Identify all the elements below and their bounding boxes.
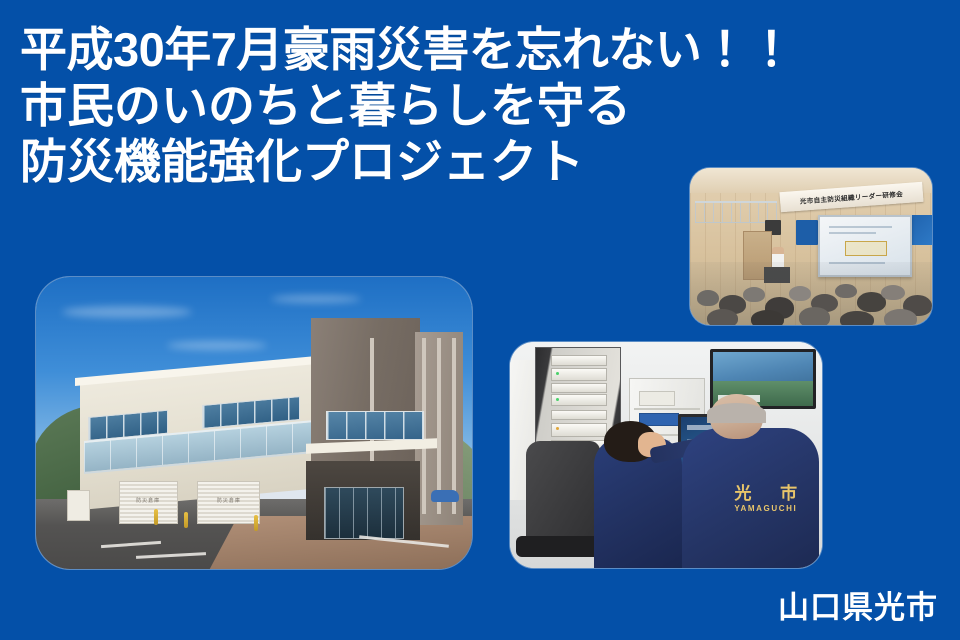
audience-head	[707, 309, 738, 325]
rack-unit	[551, 355, 607, 366]
seminar-scene: 光市自主防災組織リーダー研修会	[690, 168, 932, 325]
bollard	[254, 515, 258, 531]
bollard	[154, 509, 158, 525]
tower-window	[326, 411, 424, 439]
page-title: 平成30年7月豪雨災害を忘れない！！ 市民のいのちと暮らしを守る 防災機能強化プ…	[20, 22, 720, 190]
rack-unit	[551, 394, 607, 406]
city-credit: 山口県光市	[778, 590, 938, 626]
photo-disaster-prevention-building: 防災倉庫 防災倉庫	[36, 277, 472, 569]
uniform-back-print: 光 市 YAMAGUCHI	[697, 484, 822, 514]
photo-leader-training-seminar: 光市自主防災組織リーダー研修会	[690, 168, 932, 325]
cabinet-box	[639, 391, 675, 406]
rack-unit	[551, 383, 607, 393]
title-line-3: 防災機能強化プロジェクト	[20, 134, 720, 190]
parked-car	[431, 490, 459, 502]
entrance-glass-door	[324, 487, 404, 539]
audience-head	[884, 309, 918, 325]
audience-head	[881, 285, 905, 301]
poster-root: 平成30年7月豪雨災害を忘れない！！ 市民のいのちと暮らしを守る 防災機能強化プ…	[0, 0, 960, 640]
slide-line	[829, 232, 876, 234]
audience-head	[835, 284, 857, 298]
rack-unit	[551, 410, 607, 421]
tower-fin	[452, 338, 456, 513]
cloud-wisp	[271, 295, 361, 303]
rack-unit	[551, 423, 607, 436]
seminar-banner-text: 光市自主防災組織リーダー研修会	[799, 188, 903, 206]
operations-scene: 光 市 YAMAGUCHI	[510, 342, 822, 568]
audience-head	[751, 310, 785, 325]
uniform-roman: YAMAGUCHI	[697, 503, 822, 514]
slide-line	[829, 226, 892, 228]
slide-highlight-box	[845, 241, 886, 256]
title-line-1: 平成30年7月豪雨災害を忘れない！！	[20, 22, 720, 78]
audience-head	[743, 287, 765, 302]
audience-head	[697, 290, 719, 306]
rack-status-led	[556, 372, 559, 375]
tower-fin	[437, 338, 441, 513]
uniform-kanji: 光 市	[697, 484, 822, 503]
audience-head	[799, 307, 830, 325]
garage-shutter-right: 防災倉庫	[197, 481, 260, 524]
flag-left	[796, 220, 818, 245]
shutter-label-right: 防災倉庫	[198, 497, 259, 504]
staff-male-hair	[707, 403, 766, 423]
audience-head	[789, 286, 811, 301]
title-line-2: 市民のいのちと暮らしを守る	[20, 78, 720, 134]
shutter-label-left: 防災倉庫	[120, 497, 177, 504]
bollard	[184, 512, 188, 528]
cabinet-shelf	[634, 408, 700, 410]
audience-head	[840, 311, 874, 325]
rack-unit	[551, 368, 607, 381]
building-scene: 防災倉庫 防災倉庫	[36, 277, 472, 569]
audience-area	[690, 262, 932, 325]
garage-shutter-left: 防災倉庫	[119, 481, 178, 524]
photo-emergency-operations-room: 光 市 YAMAGUCHI	[510, 342, 822, 568]
side-door	[67, 490, 91, 521]
